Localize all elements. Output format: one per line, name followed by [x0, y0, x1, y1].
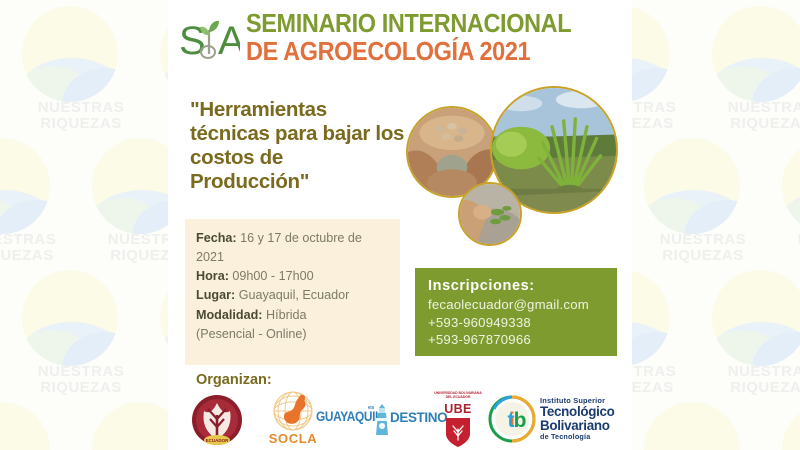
ube-top-text: UNIVERSIDAD BOLIVARIANA DEL ECUADOR [432, 391, 484, 400]
watermark-text: NUESTRASRIQUEZAS [6, 364, 156, 396]
ube-logo: UNIVERSIDAD BOLIVARIANA DEL ECUADOR UBE [432, 391, 484, 447]
ube-word: UBE [432, 402, 484, 416]
svg-text:t: t [508, 409, 515, 432]
watermark-tile: NUESTRASRIQUEZAS [690, 0, 800, 150]
itb-mark-icon: i b t [488, 395, 536, 443]
itb-line-4: de Tecnología [540, 432, 615, 441]
info-row-hora: Hora: 09h00 - 17h00 [196, 267, 389, 286]
info-value-modalidad: Híbrida [266, 308, 307, 322]
watermark-tile: NUESTRASRIQUEZAS [622, 396, 772, 450]
info-label-fecha: Fecha: [196, 231, 237, 245]
svg-text:S: S [179, 19, 206, 63]
svg-text:b: b [514, 409, 527, 432]
organizers-label: Organizan: [196, 372, 272, 388]
poster-header: S A SEMINARIO INTERNACIONAL DE AGROECOLO… [178, 10, 599, 66]
watermark-circle-icon [712, 270, 800, 366]
es-word: es [368, 405, 374, 411]
watermark-circle-icon [0, 138, 50, 234]
guayaquil-es-destino-logo: GUAYAQUIL es DESTINO [316, 403, 424, 437]
itb-line-3: Bolivariano [540, 419, 615, 433]
watermark-circle-icon [644, 402, 740, 450]
info-value-hora: 09h00 - 17h00 [232, 269, 313, 283]
watermark-text: NUESTRASRIQUEZAS [628, 232, 778, 264]
watermark-text: NUESTRASRIQUEZAS [766, 232, 800, 264]
poster-quote: "Herramientas técnicas para bajar los co… [190, 98, 405, 194]
itb-line-2: Tecnológico [540, 405, 615, 419]
watermark-text: NUESTRASRIQUEZAS [696, 364, 800, 396]
watermark-tile: NUESTRASRIQUEZAS [760, 396, 800, 450]
info-row-fecha: Fecha: 16 y 17 de octubre de 2021 [196, 229, 389, 267]
photo-group [398, 78, 628, 248]
watermark-text: NUESTRASRIQUEZAS [6, 100, 156, 132]
info-label-lugar: Lugar: [196, 288, 235, 302]
title-line-2: DE AGROECOLOGÍA 2021 [246, 38, 571, 67]
photo-hand-planting-seedling [458, 182, 522, 246]
watermark-circle-icon [644, 138, 740, 234]
title-block: SEMINARIO INTERNACIONAL DE AGROECOLOGÍA … [246, 10, 599, 66]
info-label-hora: Hora: [196, 269, 229, 283]
info-value-lugar: Guayaquil, Ecuador [239, 288, 350, 302]
watermark-circle-icon [782, 138, 800, 234]
ube-shield-icon [443, 418, 473, 448]
svg-text:ECUADOR: ECUADOR [206, 438, 230, 443]
watermark-circle-icon [22, 270, 118, 366]
watermark-tile: NUESTRASRIQUEZAS [622, 132, 772, 282]
watermark-circle-icon [0, 402, 50, 450]
registration-phone-1[interactable]: +593-960949338 [428, 314, 617, 332]
info-label-modalidad: Modalidad: [196, 308, 262, 322]
watermark-tile: NUESTRASRIQUEZAS [0, 264, 150, 414]
info-row-modalidad: Modalidad: Híbrida [196, 306, 389, 325]
registration-title: Inscripciones: [428, 278, 617, 294]
watermark-tile: NUESTRASRIQUEZAS [690, 264, 800, 414]
watermark-circle-icon [712, 6, 800, 102]
watermark-tile: NUESTRASRIQUEZAS [0, 0, 150, 150]
registration-phone-2[interactable]: +593-967870966 [428, 331, 617, 349]
organizer-logos: ECUADOR SOCLA GUAYAQUIL [188, 389, 618, 447]
watermark-text: NUESTRASRIQUEZAS [696, 100, 800, 132]
watermark-circle-icon [22, 6, 118, 102]
fecaol-logo: ECUADOR [190, 393, 244, 447]
title-line-1: SEMINARIO INTERNACIONAL [246, 12, 571, 38]
registration-email[interactable]: fecaolecuador@gmail.com [428, 296, 617, 314]
svg-text:A: A [218, 19, 240, 63]
watermark-tile: NUESTRASRIQUEZAS [760, 132, 800, 282]
registration-box: Inscripciones: fecaolecuador@gmail.com +… [415, 268, 617, 356]
watermark-circle-icon [782, 402, 800, 450]
info-modalidad-note: (Pesencial - Online) [196, 325, 389, 344]
event-info-panel: Fecha: 16 y 17 de octubre de 2021 Hora: … [185, 219, 400, 365]
sia-logo: S A [178, 10, 240, 66]
itb-logo: i b t Instituto Superior Tecnológico Bol… [488, 393, 618, 445]
poster: NUESTRASRIQUEZASNUESTRASRIQUEZASNUESTRAS… [0, 0, 800, 450]
info-row-lugar: Lugar: Guayaquil, Ecuador [196, 286, 389, 305]
